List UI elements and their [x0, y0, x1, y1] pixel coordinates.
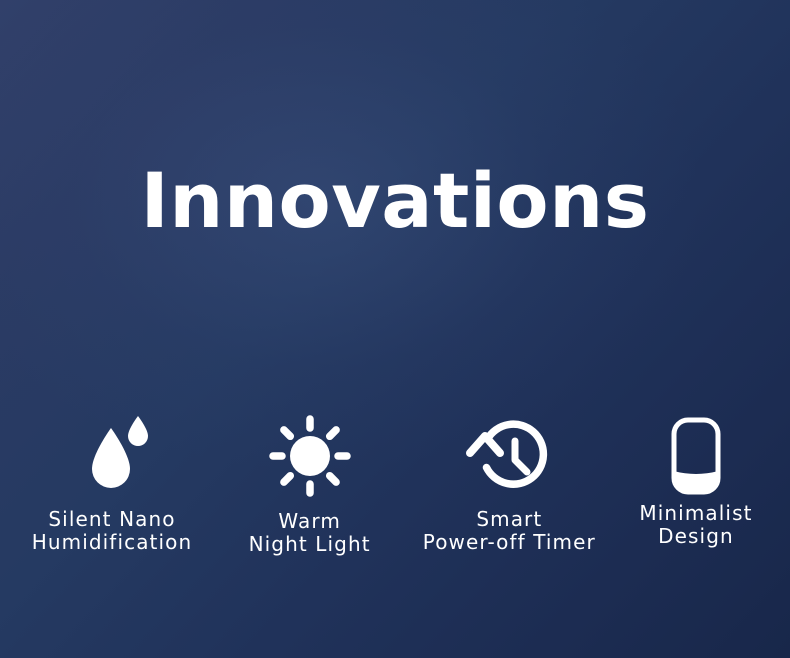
feature-item-timer: Smart Power-off Timer — [409, 412, 609, 554]
innovations-poster: Innovations Silent Nano Humidification — [0, 0, 790, 658]
water-droplet-icon — [70, 412, 154, 500]
feature-item-night-light: Warm Night Light — [217, 412, 403, 556]
humidifier-body-icon — [666, 412, 726, 500]
sun-icon — [268, 412, 352, 500]
feature-label: Minimalist Design — [639, 502, 752, 548]
feature-label: Silent Nano Humidification — [32, 508, 193, 554]
feature-item-humidification: Silent Nano Humidification — [14, 412, 210, 554]
feature-label: Warm Night Light — [249, 510, 371, 556]
page-title: Innovations — [0, 163, 790, 239]
clock-arrow-timer-icon — [465, 412, 553, 500]
feature-list: Silent Nano Humidification — [0, 412, 790, 556]
feature-item-design: Minimalist Design — [616, 412, 776, 548]
feature-label: Smart Power-off Timer — [423, 508, 596, 554]
